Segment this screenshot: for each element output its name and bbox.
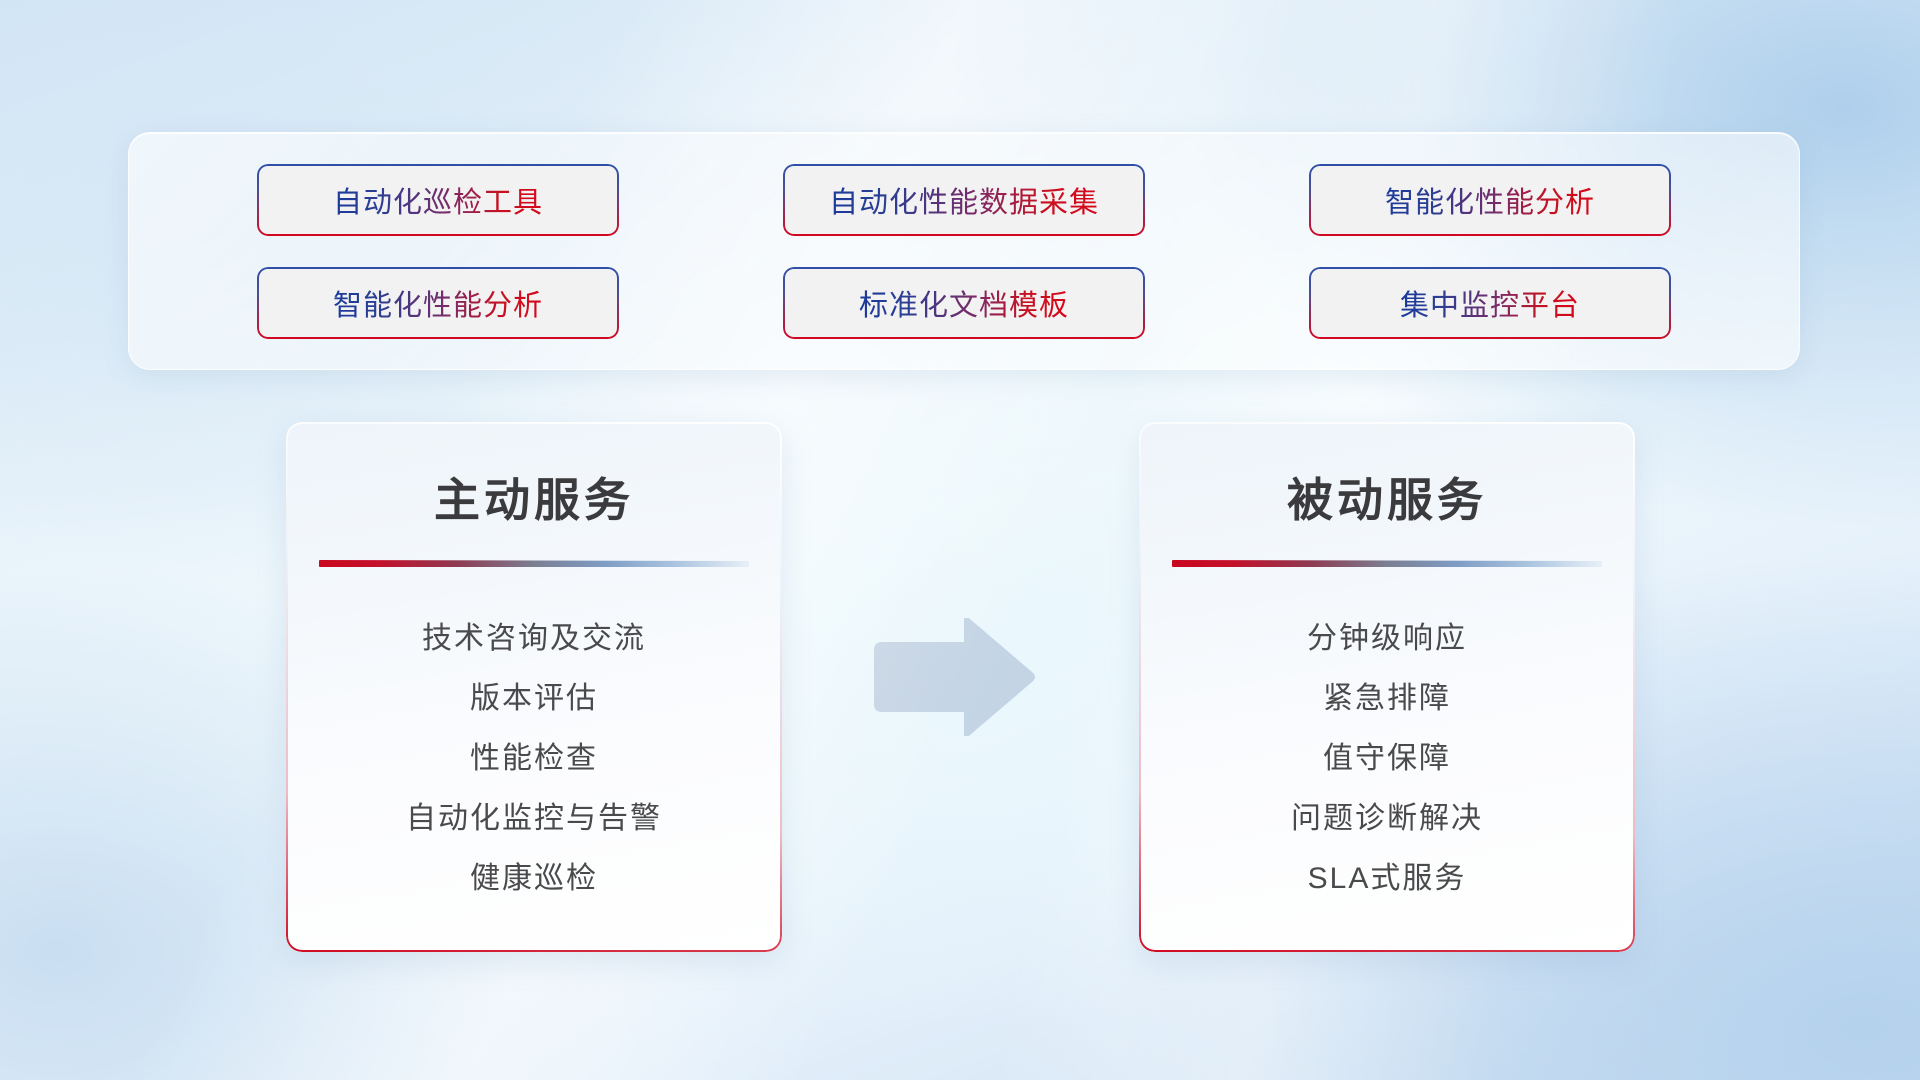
slide-canvas: 自动化巡检工具 自动化性能数据采集 智能化性能分析 智能化性能分析 标准化文档模… bbox=[0, 0, 1920, 1080]
list-item: 紧急排障 bbox=[1139, 669, 1635, 729]
right-arrow-icon bbox=[866, 618, 1036, 736]
service-card-passive[interactable]: 被动服务 分钟级响应 紧急排障 值守保障 问题诊断解决 SLA式服务 bbox=[1139, 422, 1635, 952]
list-item: SLA式服务 bbox=[1139, 849, 1635, 909]
capability-tag[interactable]: 智能化性能分析 bbox=[1311, 166, 1669, 234]
capability-tag-label: 自动化巡检工具 bbox=[333, 179, 543, 221]
capability-tag-label: 智能化性能分析 bbox=[1385, 179, 1595, 221]
capability-tag-label: 标准化文档模板 bbox=[859, 282, 1069, 324]
capability-tag-label: 自动化性能数据采集 bbox=[829, 179, 1099, 221]
title-divider bbox=[319, 560, 749, 567]
capabilities-panel: 自动化巡检工具 自动化性能数据采集 智能化性能分析 智能化性能分析 标准化文档模… bbox=[128, 132, 1800, 370]
capability-tag-label: 智能化性能分析 bbox=[333, 282, 543, 324]
capability-tag[interactable]: 自动化巡检工具 bbox=[259, 166, 617, 234]
list-item: 健康巡检 bbox=[286, 849, 782, 909]
list-item: 问题诊断解决 bbox=[1139, 789, 1635, 849]
capability-tag[interactable]: 智能化性能分析 bbox=[259, 269, 617, 337]
card-title: 主动服务 bbox=[286, 464, 782, 530]
list-item: 自动化监控与告警 bbox=[286, 789, 782, 849]
capability-tag[interactable]: 标准化文档模板 bbox=[785, 269, 1143, 337]
service-card-active[interactable]: 主动服务 技术咨询及交流 版本评估 性能检查 自动化监控与告警 健康巡检 bbox=[286, 422, 782, 952]
service-list: 分钟级响应 紧急排障 值守保障 问题诊断解决 SLA式服务 bbox=[1139, 609, 1635, 909]
capability-tag-label: 集中监控平台 bbox=[1400, 282, 1580, 324]
capability-tag[interactable]: 自动化性能数据采集 bbox=[785, 166, 1143, 234]
service-list: 技术咨询及交流 版本评估 性能检查 自动化监控与告警 健康巡检 bbox=[286, 609, 782, 909]
title-divider bbox=[1172, 560, 1602, 567]
list-item: 技术咨询及交流 bbox=[286, 609, 782, 669]
list-item: 性能检查 bbox=[286, 729, 782, 789]
card-title: 被动服务 bbox=[1139, 464, 1635, 530]
list-item: 版本评估 bbox=[286, 669, 782, 729]
list-item: 值守保障 bbox=[1139, 729, 1635, 789]
list-item: 分钟级响应 bbox=[1139, 609, 1635, 669]
capability-tag[interactable]: 集中监控平台 bbox=[1311, 269, 1669, 337]
